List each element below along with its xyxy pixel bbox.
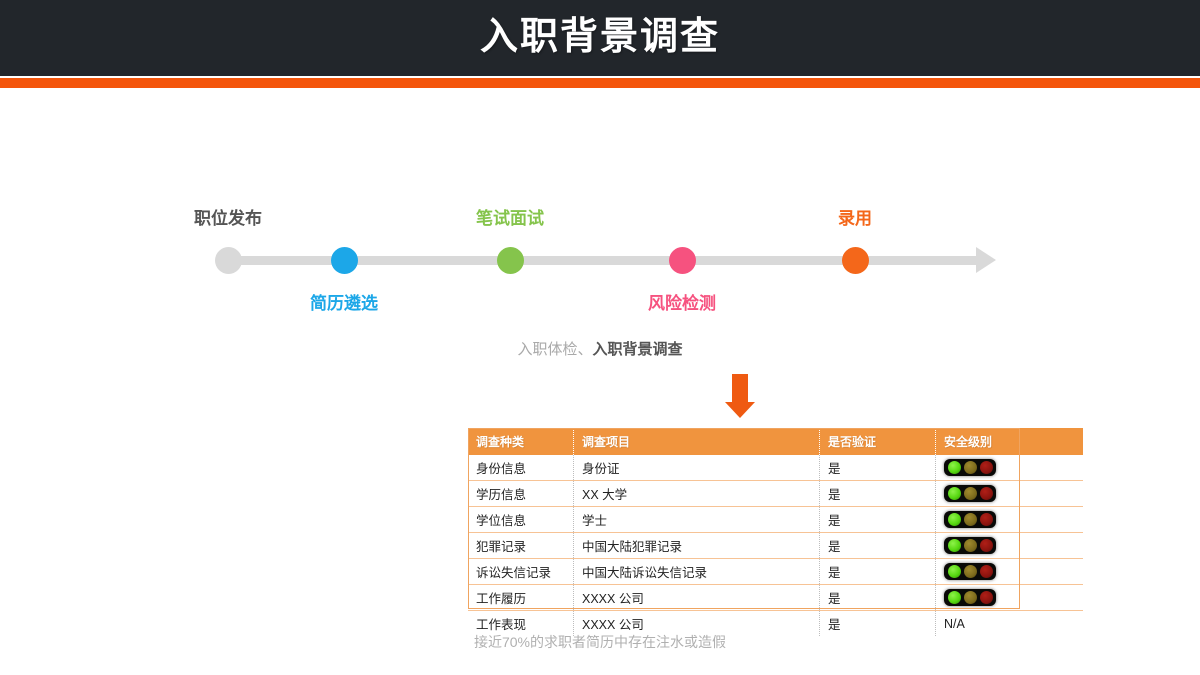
table-row: 犯罪记录中国大陆犯罪记录是	[468, 533, 1083, 559]
cell-type-1: 学历信息	[468, 481, 574, 507]
subnote: 入职体检、入职背景调查	[0, 338, 1200, 359]
cell-type-3: 犯罪记录	[468, 533, 574, 559]
cell-verified-3: 是	[820, 533, 936, 559]
amber-lamp-icon	[964, 591, 977, 604]
cell-type-5: 工作履历	[468, 585, 574, 611]
traffic-light-icon	[944, 537, 996, 554]
cell-level-4	[936, 559, 1084, 585]
red-lamp-icon	[980, 591, 993, 604]
green-lamp-icon	[948, 565, 961, 578]
subnote-normal-text: 入职体检、	[517, 341, 592, 358]
table-row: 诉讼失信记录中国大陆诉讼失信记录是	[468, 559, 1083, 585]
cell-verified-1: 是	[820, 481, 936, 507]
timeline-dot-1[interactable]	[331, 247, 358, 274]
traffic-light-icon	[944, 563, 996, 580]
down-arrow-shaft	[732, 374, 748, 402]
subnote-strong-text: 入职背景调查	[593, 341, 683, 358]
cell-type-2: 学位信息	[468, 507, 574, 533]
cell-type-0: 身份信息	[468, 455, 574, 481]
cell-verified-0: 是	[820, 455, 936, 481]
page-title: 入职背景调查	[0, 0, 1200, 76]
cell-item-1: XX 大学	[574, 481, 820, 507]
cell-level-0	[936, 455, 1084, 481]
table-row: 学位信息学士是	[468, 507, 1083, 533]
green-lamp-icon	[948, 461, 961, 474]
cell-level-3	[936, 533, 1084, 559]
traffic-light-icon	[944, 459, 996, 476]
cell-level-5	[936, 585, 1084, 611]
red-lamp-icon	[980, 539, 993, 552]
column-header-item[interactable]: 调查项目	[574, 428, 820, 455]
green-lamp-icon	[948, 539, 961, 552]
red-lamp-icon	[980, 513, 993, 526]
amber-lamp-icon	[964, 461, 977, 474]
cell-level-1	[936, 481, 1084, 507]
process-timeline: 职位发布 简历遴选 笔试面试 风险检测 录用	[0, 185, 1200, 330]
cell-item-2: 学士	[574, 507, 820, 533]
down-arrow-head	[725, 402, 755, 418]
cell-verified-2: 是	[820, 507, 936, 533]
footer-note: 接近70%的求职者简历中存在注水或造假	[0, 632, 1200, 652]
table-row: 身份信息身份证是	[468, 455, 1083, 481]
amber-lamp-icon	[964, 487, 977, 500]
down-arrow-icon	[731, 374, 749, 418]
header-accent-bar	[0, 78, 1200, 88]
table-header-row: 调查种类 调查项目 是否验证 安全级别	[468, 428, 1083, 455]
traffic-light-icon	[944, 511, 996, 528]
cell-type-4: 诉讼失信记录	[468, 559, 574, 585]
timeline-label-0: 职位发布	[194, 204, 262, 229]
cell-item-4: 中国大陆诉讼失信记录	[574, 559, 820, 585]
cell-item-3: 中国大陆犯罪记录	[574, 533, 820, 559]
timeline-label-1: 简历遴选	[310, 289, 378, 314]
timeline-dot-3[interactable]	[669, 247, 696, 274]
column-header-verified[interactable]: 是否验证	[820, 428, 936, 455]
cell-level-2	[936, 507, 1084, 533]
table-row: 学历信息XX 大学是	[468, 481, 1083, 507]
timeline-label-2: 笔试面试	[476, 204, 544, 229]
column-header-type[interactable]: 调查种类	[468, 428, 574, 455]
column-header-level[interactable]: 安全级别	[936, 428, 1084, 455]
table-body: 身份信息身份证是学历信息XX 大学是学位信息学士是犯罪记录中国大陆犯罪记录是诉讼…	[468, 455, 1083, 636]
traffic-light-icon	[944, 589, 996, 606]
cell-item-0: 身份证	[574, 455, 820, 481]
red-lamp-icon	[980, 487, 993, 500]
cell-item-5: XXXX 公司	[574, 585, 820, 611]
timeline-dot-2[interactable]	[497, 247, 524, 274]
timeline-label-3: 风险检测	[648, 289, 716, 314]
cell-verified-5: 是	[820, 585, 936, 611]
green-lamp-icon	[948, 591, 961, 604]
amber-lamp-icon	[964, 565, 977, 578]
level-na-text: N/A	[944, 617, 965, 631]
red-lamp-icon	[980, 461, 993, 474]
table-row: 工作履历XXXX 公司是	[468, 585, 1083, 611]
background-check-table: 调查种类 调查项目 是否验证 安全级别 身份信息身份证是学历信息XX 大学是学位…	[468, 428, 1083, 636]
amber-lamp-icon	[964, 539, 977, 552]
timeline-arrowhead-icon	[976, 247, 996, 273]
red-lamp-icon	[980, 565, 993, 578]
cell-verified-4: 是	[820, 559, 936, 585]
green-lamp-icon	[948, 487, 961, 500]
timeline-dot-0[interactable]	[215, 247, 242, 274]
traffic-light-icon	[944, 485, 996, 502]
green-lamp-icon	[948, 513, 961, 526]
timeline-label-4: 录用	[838, 204, 872, 229]
timeline-dot-4[interactable]	[842, 247, 869, 274]
amber-lamp-icon	[964, 513, 977, 526]
